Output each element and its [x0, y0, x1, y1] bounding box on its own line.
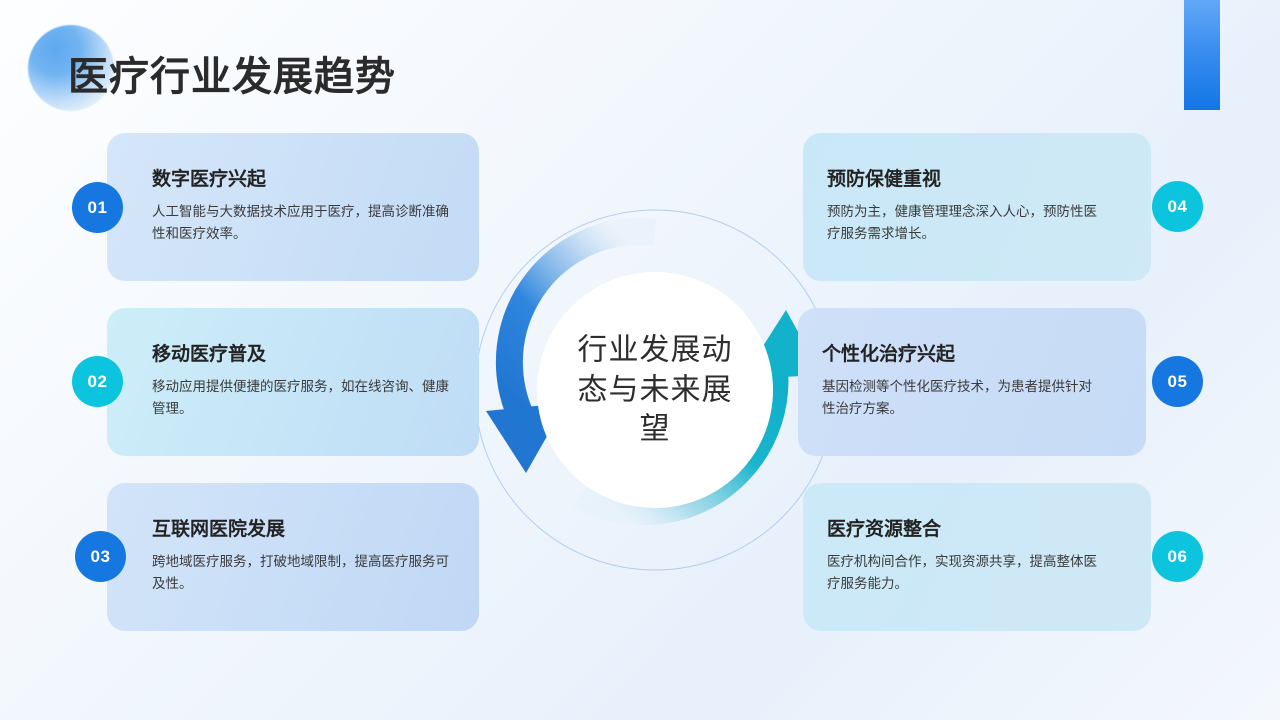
card-content: 预防保健重视 预防为主，健康管理理念深入人心，预防性医疗服务需求增长。 — [803, 133, 1151, 281]
card-content: 医疗资源整合 医疗机构间合作，实现资源共享，提高整体医疗服务能力。 — [803, 483, 1151, 631]
step-badge-03[interactable]: 03 — [75, 531, 126, 582]
step-badge-01[interactable]: 01 — [72, 182, 123, 233]
center-cycle-diagram: 行业发展动态与未来展望 — [470, 205, 840, 575]
card-description: 预防为主，健康管理理念深入人心，预防性医疗服务需求增长。 — [827, 201, 1099, 245]
step-badge-05[interactable]: 05 — [1152, 356, 1203, 407]
card-title: 预防保健重视 — [827, 169, 1099, 192]
card-description: 基因检测等个性化医疗技术，为患者提供针对性治疗方案。 — [822, 376, 1094, 420]
card-description: 医疗机构间合作，实现资源共享，提高整体医疗服务能力。 — [827, 551, 1099, 595]
card-content: 数字医疗兴起 人工智能与大数据技术应用于医疗，提高诊断准确性和医疗效率。 — [107, 133, 479, 281]
card-content: 移动医疗普及 移动应用提供便捷的医疗服务，如在线咨询、健康管理。 — [107, 308, 479, 456]
badge-number: 05 — [1168, 372, 1188, 392]
step-badge-02[interactable]: 02 — [72, 356, 123, 407]
page-title: 医疗行业发展趋势 — [68, 44, 396, 102]
badge-number: 03 — [91, 547, 111, 567]
card-content: 个性化治疗兴起 基因检测等个性化医疗技术，为患者提供针对性治疗方案。 — [798, 308, 1146, 456]
card-description: 移动应用提供便捷的医疗服务，如在线咨询、健康管理。 — [152, 376, 455, 420]
trend-card-06[interactable]: 医疗资源整合 医疗机构间合作，实现资源共享，提高整体医疗服务能力。 — [803, 483, 1151, 631]
center-label: 行业发展动态与未来展望 — [565, 331, 745, 450]
card-title: 移动医疗普及 — [152, 344, 455, 367]
badge-number: 01 — [88, 198, 108, 218]
trend-card-01[interactable]: 数字医疗兴起 人工智能与大数据技术应用于医疗，提高诊断准确性和医疗效率。 — [107, 133, 479, 281]
card-description: 人工智能与大数据技术应用于医疗，提高诊断准确性和医疗效率。 — [152, 201, 455, 245]
card-title: 医疗资源整合 — [827, 519, 1099, 542]
badge-number: 06 — [1168, 547, 1188, 567]
trend-card-02[interactable]: 移动医疗普及 移动应用提供便捷的医疗服务，如在线咨询、健康管理。 — [107, 308, 479, 456]
step-badge-04[interactable]: 04 — [1152, 181, 1203, 232]
slide-root: 医疗行业发展趋势 数字医疗兴起 人工智能与大数据技术应用于医疗，提高诊断准确性和… — [0, 0, 1280, 720]
card-content: 互联网医院发展 跨地域医疗服务，打破地域限制，提高医疗服务可及性。 — [107, 483, 479, 631]
card-description: 跨地域医疗服务，打破地域限制，提高医疗服务可及性。 — [152, 551, 455, 595]
badge-number: 04 — [1168, 197, 1188, 217]
badge-number: 02 — [88, 372, 108, 392]
trend-card-03[interactable]: 互联网医院发展 跨地域医疗服务，打破地域限制，提高医疗服务可及性。 — [107, 483, 479, 631]
corner-accent-bar — [1184, 0, 1220, 110]
trend-card-05[interactable]: 个性化治疗兴起 基因检测等个性化医疗技术，为患者提供针对性治疗方案。 — [798, 308, 1146, 456]
card-title: 数字医疗兴起 — [152, 169, 455, 192]
card-title: 互联网医院发展 — [152, 519, 455, 542]
card-title: 个性化治疗兴起 — [822, 344, 1094, 367]
trend-card-04[interactable]: 预防保健重视 预防为主，健康管理理念深入人心，预防性医疗服务需求增长。 — [803, 133, 1151, 281]
step-badge-06[interactable]: 06 — [1152, 531, 1203, 582]
